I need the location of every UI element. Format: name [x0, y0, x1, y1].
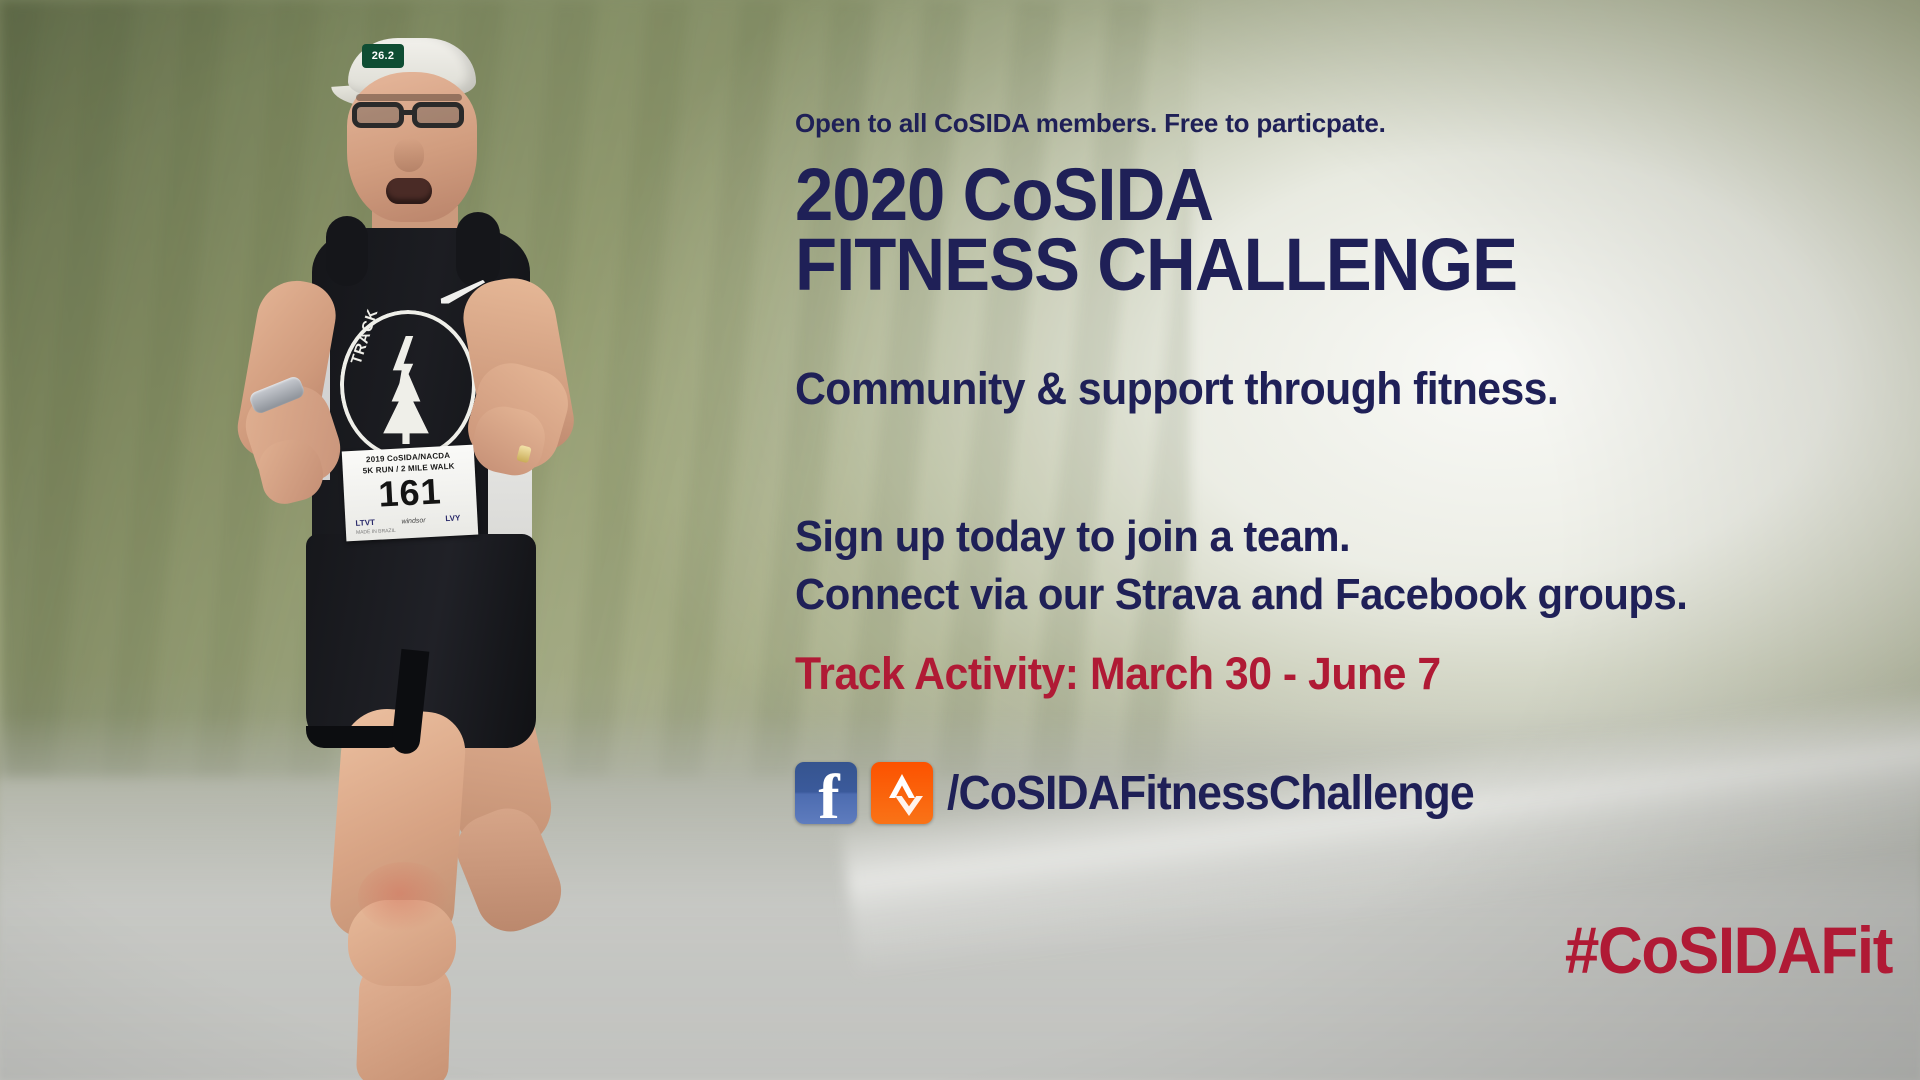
- bib-sponsor-right: LVY: [445, 513, 460, 523]
- skin-flush: [358, 862, 450, 932]
- runner-photo-subject: 26.2 TRACK 2019 CoSIDA/NACDA 5K RUN / 2 …: [100, 10, 660, 1080]
- page-title: 2020 CoSIDA FITNESS CHALLENGE: [795, 160, 1517, 300]
- cap-logo-text: 26.2: [362, 44, 404, 68]
- bib-fine-print: MADE IN BRAZIL: [356, 528, 396, 536]
- glasses-left-lens: [352, 102, 404, 128]
- facebook-f-glyph: f: [795, 762, 857, 824]
- race-bib: 2019 CoSIDA/NACDA 5K RUN / 2 MILE WALK 1…: [342, 445, 479, 542]
- strava-icon[interactable]: [871, 762, 933, 824]
- tagline-text: Community & support through fitness.: [795, 363, 1558, 415]
- runner-mouth: [386, 178, 432, 204]
- poster-canvas: 26.2 TRACK 2019 CoSIDA/NACDA 5K RUN / 2 …: [0, 0, 1920, 1080]
- strava-chevron-up-icon: [889, 774, 915, 798]
- kicker-text: Open to all CoSIDA members. Free to part…: [795, 108, 1386, 139]
- glasses-right-lens: [412, 102, 464, 128]
- hashtag: #CoSIDAFit: [1565, 912, 1892, 988]
- glasses-bridge: [403, 110, 417, 115]
- social-handle[interactable]: /CoSIDAFitnessChallenge: [947, 766, 1474, 821]
- singlet-strap-left: [326, 216, 368, 286]
- runner-brow: [356, 94, 462, 101]
- social-links-row: f /CoSIDAFitnessChallenge: [795, 762, 1513, 824]
- call-to-action: Sign up today to join a team. Connect vi…: [795, 508, 1687, 624]
- singlet-strap-right: [456, 212, 500, 288]
- runner-nose: [394, 138, 424, 172]
- bib-sponsor-left: LTVT: [355, 518, 375, 528]
- bib-sponsor-center: windsor: [401, 517, 425, 525]
- facebook-icon[interactable]: f: [795, 762, 857, 824]
- track-activity-dates: Track Activity: March 30 - June 7: [795, 648, 1441, 700]
- cta-line-1: Sign up today to join a team.: [795, 512, 1350, 561]
- cta-line-2: Connect via our Strava and Facebook grou…: [795, 570, 1687, 619]
- bib-number: 161: [351, 471, 469, 515]
- shorts-hem: [306, 726, 406, 748]
- headline-line-2: FITNESS CHALLENGE: [795, 230, 1517, 300]
- strava-chevron-down-icon: [895, 796, 923, 816]
